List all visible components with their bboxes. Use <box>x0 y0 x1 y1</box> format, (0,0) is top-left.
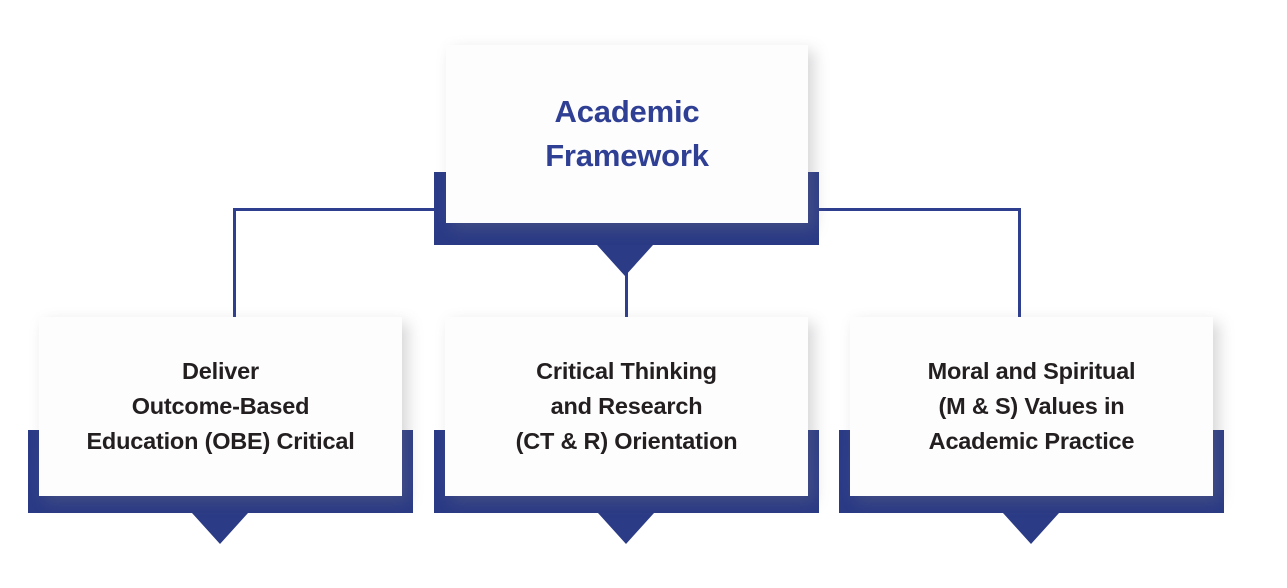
node-academic-framework[interactable]: Academic Framework <box>434 45 819 277</box>
node-arrow-down-icon <box>1003 513 1059 544</box>
connector-horizontal-left <box>233 208 436 211</box>
academic-framework-diagram: Academic Framework Deliver Outcome-Based… <box>0 0 1287 588</box>
node-outcome-based-education[interactable]: Deliver Outcome-Based Education (OBE) Cr… <box>28 317 413 548</box>
node-label: Deliver Outcome-Based Education (OBE) Cr… <box>86 354 354 459</box>
connector-vertical-right <box>1018 208 1021 320</box>
node-arrow-down-icon <box>597 245 653 276</box>
connector-horizontal-right <box>816 208 1021 211</box>
node-moral-spiritual-values[interactable]: Moral and Spiritual (M & S) Values in Ac… <box>839 317 1224 548</box>
node-arrow-down-icon <box>598 513 654 544</box>
node-panel: Critical Thinking and Research (CT & R) … <box>445 317 808 496</box>
node-label: Moral and Spiritual (M & S) Values in Ac… <box>928 354 1136 459</box>
node-panel: Academic Framework <box>446 45 808 223</box>
node-label: Academic Framework <box>545 90 709 178</box>
connector-vertical-left <box>233 208 236 320</box>
node-critical-thinking-research[interactable]: Critical Thinking and Research (CT & R) … <box>434 317 819 548</box>
node-arrow-down-icon <box>192 513 248 544</box>
node-label: Critical Thinking and Research (CT & R) … <box>516 354 738 459</box>
node-panel: Deliver Outcome-Based Education (OBE) Cr… <box>39 317 402 496</box>
node-panel: Moral and Spiritual (M & S) Values in Ac… <box>850 317 1213 496</box>
